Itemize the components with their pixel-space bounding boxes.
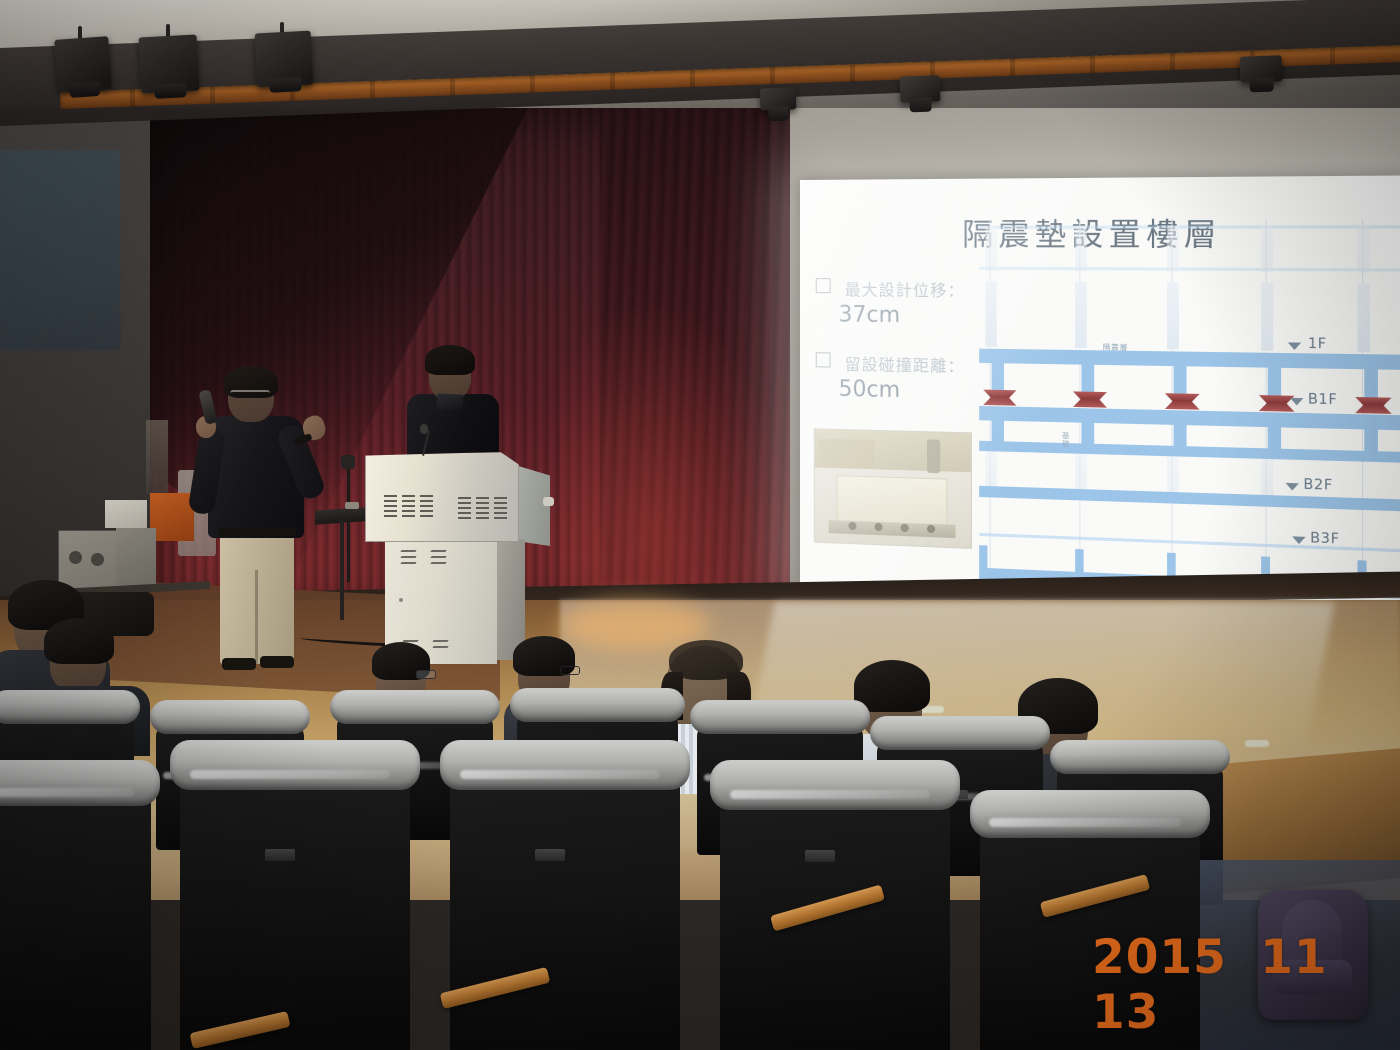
- floor-label-b2f: B2F: [1303, 477, 1332, 494]
- date-day: 13: [1092, 985, 1159, 1040]
- curtain-highlight: [560, 300, 790, 630]
- podium-knob: [543, 497, 554, 506]
- stage-light-icon: [139, 35, 200, 94]
- floor-label-1f: 1F: [1308, 336, 1327, 352]
- side-table-leg: [340, 520, 344, 620]
- stage-light-icon: [1240, 55, 1283, 82]
- person-at-podium: [405, 350, 515, 470]
- camera-date-stamp: 2015 11 13: [1092, 930, 1400, 1040]
- floor-label-b1f: B1F: [1308, 392, 1337, 409]
- bullet-2-label: 留設碰撞距離：: [845, 355, 965, 376]
- diagram-note-vertical: 基礎: [1060, 431, 1071, 448]
- podium-microphone-icon: [420, 424, 428, 434]
- isolator-photo-inset: [814, 428, 972, 549]
- date-month: 11: [1260, 930, 1327, 985]
- presenter-speaker: [190, 370, 330, 670]
- bullet-1-label: 最大設計位移：: [845, 280, 965, 300]
- auditorium-seat[interactable]: [440, 740, 690, 1050]
- left-wall-blue-panel: [0, 150, 120, 350]
- glasses-icon: [416, 670, 436, 679]
- podium-lectern: [365, 452, 519, 542]
- photo-canvas: 隔震墊設置樓層 最大設計位移： 37cm 留設碰撞距離： 50cm: [0, 0, 1400, 1050]
- building-section-diagram: 1F 隔震層 B1F: [979, 219, 1400, 599]
- wall-scroll: [146, 420, 168, 494]
- auditorium-seat[interactable]: [170, 740, 420, 1050]
- glasses-icon: [230, 390, 270, 399]
- projection-screen: 隔震墊設置樓層 最大設計位移： 37cm 留設碰撞距離： 50cm: [800, 175, 1400, 616]
- glasses-icon: [560, 666, 580, 675]
- date-year: 2015: [1092, 930, 1227, 985]
- orange-equipment-case: [150, 493, 194, 541]
- slide-content: 隔震墊設置樓層 最大設計位移： 37cm 留設碰撞距離： 50cm: [800, 175, 1400, 616]
- checkbox-icon: [816, 278, 831, 293]
- stage-light-icon: [54, 36, 111, 92]
- stage-light-icon: [900, 75, 941, 102]
- auditorium-seat[interactable]: [0, 760, 160, 1050]
- table-item: [345, 502, 359, 509]
- microphone-icon: [341, 455, 355, 469]
- equipment-box: [116, 528, 156, 590]
- stage-light-icon: [255, 31, 314, 88]
- checkbox-icon: [816, 352, 831, 367]
- diagram-note: 隔震層: [1103, 342, 1129, 353]
- white-equipment-box: [105, 500, 147, 528]
- stage-light-icon: [760, 87, 797, 110]
